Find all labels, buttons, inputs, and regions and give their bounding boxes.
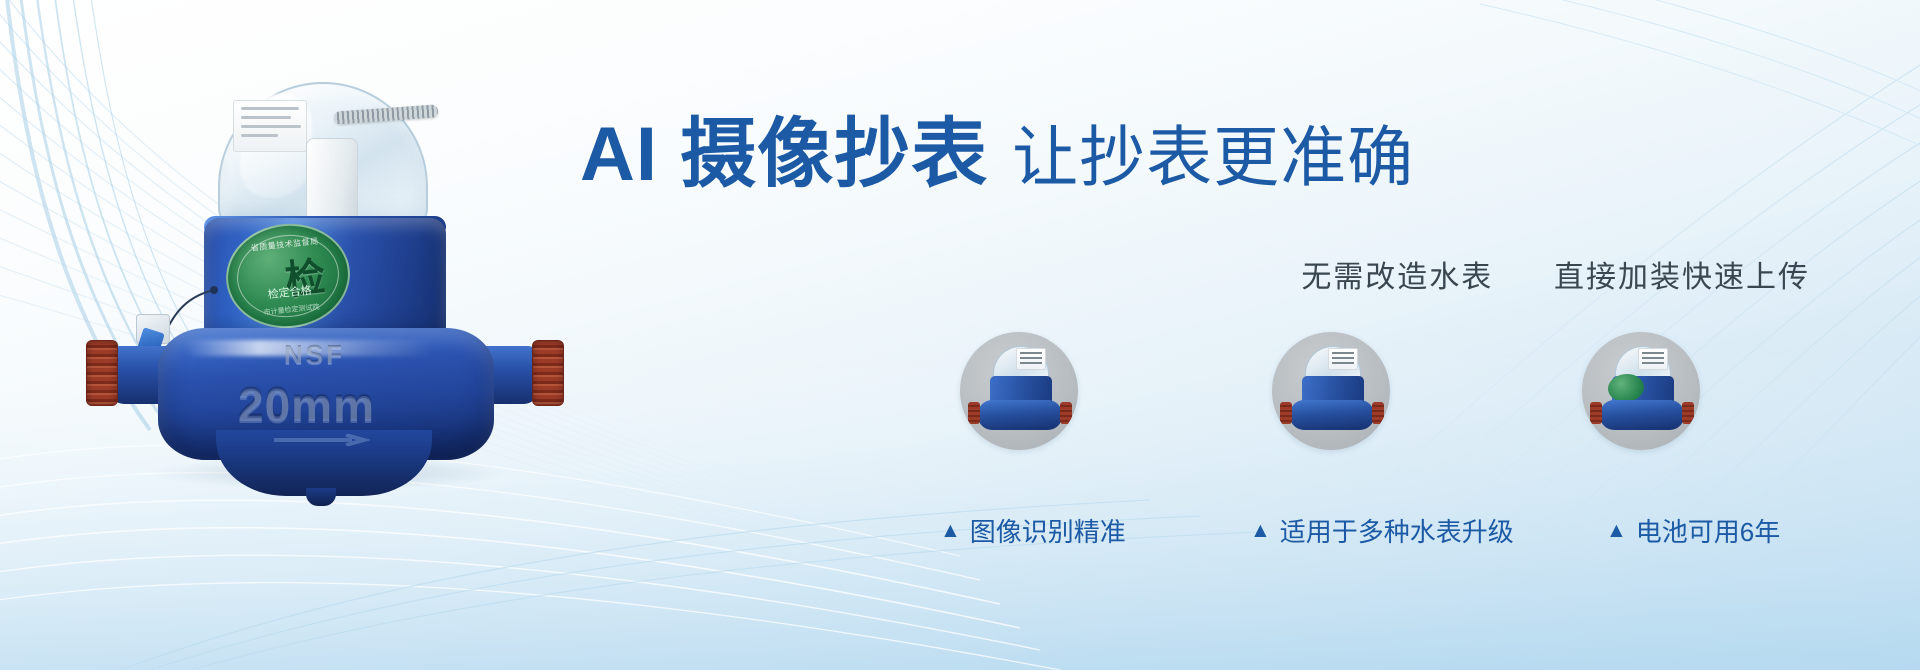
camera-module <box>306 138 358 224</box>
triangle-bullet-icon: ▲ <box>1606 520 1627 541</box>
thumb3-body <box>1600 400 1684 430</box>
product-thumbnail-2[interactable] <box>1272 332 1390 450</box>
thumb1-inlet-thread <box>968 402 980 424</box>
feature-label-2: 适用于多种水表升级 <box>1280 512 1514 549</box>
subtitle-left-text: 无需改造水表 <box>1301 261 1493 294</box>
flow-direction-arrow-icon <box>274 434 370 446</box>
outlet-thread-connector <box>532 340 564 406</box>
subtitle-right-text: 直接加装快速上传 <box>1554 261 1810 294</box>
product-thumbnail-3[interactable] <box>1582 332 1700 450</box>
triangle-bullet-icon: ▲ <box>1250 520 1271 541</box>
thumb3-inlet-thread <box>1590 402 1602 424</box>
feature-label-1: 图像识别精准 <box>970 512 1126 549</box>
thumb2-barcode-label <box>1328 348 1358 370</box>
feature-caption-3: ▲ 电池可用6年 <box>1606 512 1780 549</box>
product-thumbnail-group <box>960 332 1800 450</box>
feature-caption-group: ▲ 图像识别精准 ▲ 适用于多种水表升级 ▲ 电池可用6年 <box>940 512 1900 556</box>
thumb1-module-label <box>1016 348 1046 370</box>
headline-main-text: AI 摄像抄表 <box>580 112 988 197</box>
product-thumbnail-1[interactable] <box>960 332 1078 450</box>
feature-caption-1: ▲ 图像识别精准 <box>940 512 1126 549</box>
feature-caption-2: ▲ 适用于多种水表升级 <box>1250 512 1514 549</box>
brand-marking: NSF <box>284 340 345 371</box>
inlet-thread-connector <box>86 340 118 406</box>
thumb1-outlet-thread <box>1060 402 1072 424</box>
thumb3-module-label <box>1638 348 1668 370</box>
size-marking: 20mm <box>238 378 375 432</box>
feature-label-3: 电池可用6年 <box>1636 512 1780 549</box>
hero-product-image: 省质量技术监督局 检 检定合格 市计量检定测试院 NSF 20mm <box>88 78 558 498</box>
thumb1-body <box>978 400 1062 430</box>
thumb2-outlet-thread <box>1372 402 1384 424</box>
thumb3-outlet-thread <box>1682 402 1694 424</box>
promo-banner: 省质量技术监督局 检 检定合格 市计量检定测试院 NSF 20mm AI 摄像抄… <box>0 0 1920 670</box>
thumb2-inlet-thread <box>1280 402 1292 424</box>
thumb2-body <box>1290 400 1374 430</box>
meter-drain-plug <box>306 488 336 506</box>
triangle-bullet-icon: ▲ <box>940 520 961 541</box>
camera-module-label <box>233 100 307 152</box>
banner-subtitle: 无需改造水表 直接加装快速上传 <box>1301 252 1810 296</box>
headline-secondary-text: 让抄表更准确 <box>1012 120 1414 194</box>
banner-headline: AI 摄像抄表让抄表更准确 <box>580 104 1880 200</box>
